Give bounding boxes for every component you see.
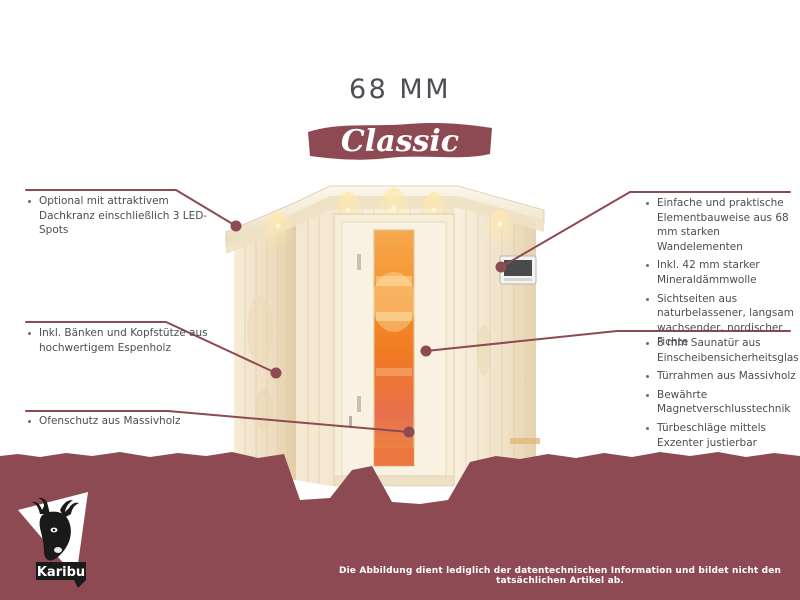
- logo-wordmark: Karibu: [37, 565, 85, 580]
- callout-item: Optional mit attraktivem Dachkranz einsc…: [26, 194, 211, 238]
- callout-item: Bewährte Magnetverschlusstechnik: [644, 388, 800, 417]
- callout-item: Inkl. 42 mm starker Mineraldämmwolle: [644, 258, 800, 287]
- callout-item: Ofenschutz aus Massivholz: [26, 414, 211, 429]
- callout-left-3: Ofenschutz aus Massivholz: [26, 414, 211, 433]
- callout-item: Inkl. Bänken und Kopfstütze aus hochwert…: [26, 326, 211, 355]
- control-panel-icon: [500, 256, 536, 284]
- callout-right-2: 8 mm Saunatür aus Einscheibensicherheits…: [644, 336, 800, 454]
- brand-word: Classic: [341, 124, 459, 159]
- glass-door-icon: [372, 230, 416, 466]
- product-infographic: 68 MM Classic: [0, 0, 800, 600]
- callout-item: Einfache und praktische Elementbauweise …: [644, 196, 800, 254]
- callout-item: Türrahmen aus Massivholz: [644, 369, 800, 384]
- page-title: 68 MM: [0, 74, 800, 105]
- door-hinge-icon: [357, 254, 361, 270]
- door-hinge-icon: [357, 396, 361, 412]
- brand-banner: Classic: [304, 118, 496, 164]
- disclaimer-text: Die Abbildung dient lediglich der datent…: [330, 566, 790, 586]
- brand-logo: Karibu: [14, 492, 106, 590]
- callout-item: 8 mm Saunatür aus Einscheibensicherheits…: [644, 336, 800, 365]
- callout-left-2: Inkl. Bänken und Kopfstütze aus hochwert…: [26, 326, 211, 359]
- callout-left-1: Optional mit attraktivem Dachkranz einsc…: [26, 194, 211, 242]
- callout-right-1: Einfache und praktische Elementbauweise …: [644, 196, 800, 354]
